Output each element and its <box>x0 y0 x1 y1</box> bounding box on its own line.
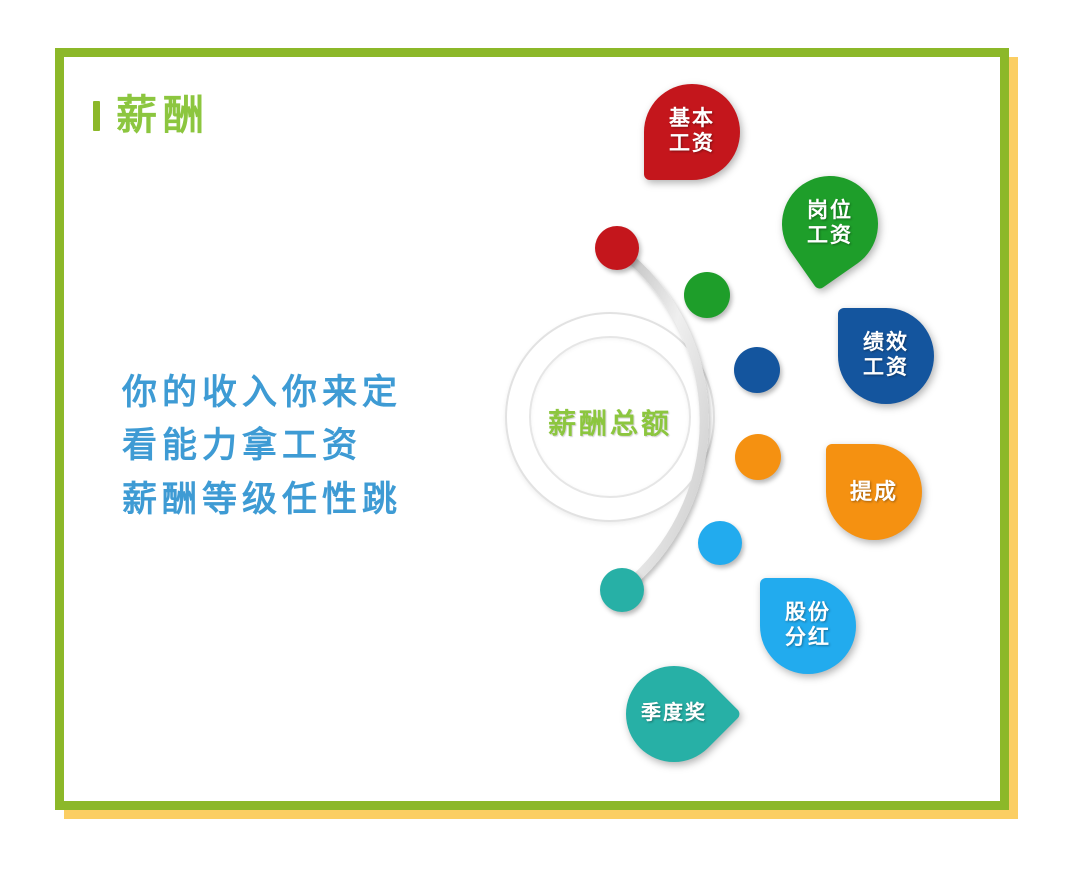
title-text: 薪酬 <box>116 95 210 136</box>
title-accent-bar <box>93 101 100 131</box>
callout-line-1: 绩效 <box>863 331 909 356</box>
callout-label-绩效工资: 绩效 工资 <box>838 308 934 404</box>
callout-label-提成: 提成 <box>826 444 922 540</box>
node-dot-季度奖[interactable] <box>600 568 644 612</box>
callout-line-1: 岗位 <box>807 199 853 224</box>
slogan-block: 你的收入你来定 看能力拿工资 薪酬等级任性跳 <box>122 372 402 520</box>
node-dot-提成[interactable] <box>735 434 781 480</box>
callout-股份分红[interactable]: 股份 分红 <box>760 578 856 674</box>
callout-line-2: 分红 <box>785 626 831 651</box>
slogan-line-3: 薪酬等级任性跳 <box>122 479 402 520</box>
callout-label-股份分红: 股份 分红 <box>760 578 856 674</box>
callout-line-2: 工资 <box>807 224 853 249</box>
node-dot-岗位工资[interactable] <box>684 272 730 318</box>
callout-绩效工资[interactable]: 绩效 工资 <box>838 308 934 404</box>
callout-基本工资[interactable]: 基本 工资 <box>644 84 740 180</box>
node-dot-股份分红[interactable] <box>698 521 742 565</box>
callout-label-岗位工资: 岗位 工资 <box>782 176 878 272</box>
callout-提成[interactable]: 提成 <box>826 444 922 540</box>
callout-季度奖[interactable]: 季度奖 <box>626 666 722 762</box>
callout-line-2: 工资 <box>669 132 715 157</box>
slide-canvas: 薪酬 你的收入你来定 看能力拿工资 薪酬等级任性跳 薪酬总额 <box>0 0 1080 872</box>
callout-line-2: 工资 <box>863 356 909 381</box>
node-dot-绩效工资[interactable] <box>734 347 780 393</box>
slogan-line-2: 看能力拿工资 <box>122 425 402 466</box>
callout-line-1: 基本 <box>669 107 715 132</box>
center-label: 薪酬总额 <box>505 402 715 442</box>
callout-label-季度奖: 季度奖 <box>626 666 722 762</box>
page-title: 薪酬 <box>93 95 210 136</box>
callout-line-1: 季度奖 <box>641 702 707 726</box>
callout-label-基本工资: 基本 工资 <box>644 84 740 180</box>
slogan-line-1: 你的收入你来定 <box>122 372 402 413</box>
callout-岗位工资[interactable]: 岗位 工资 <box>782 176 878 272</box>
callout-line-1: 股份 <box>785 601 831 626</box>
callout-line-1: 提成 <box>850 479 898 505</box>
node-dot-基本工资[interactable] <box>595 226 639 270</box>
